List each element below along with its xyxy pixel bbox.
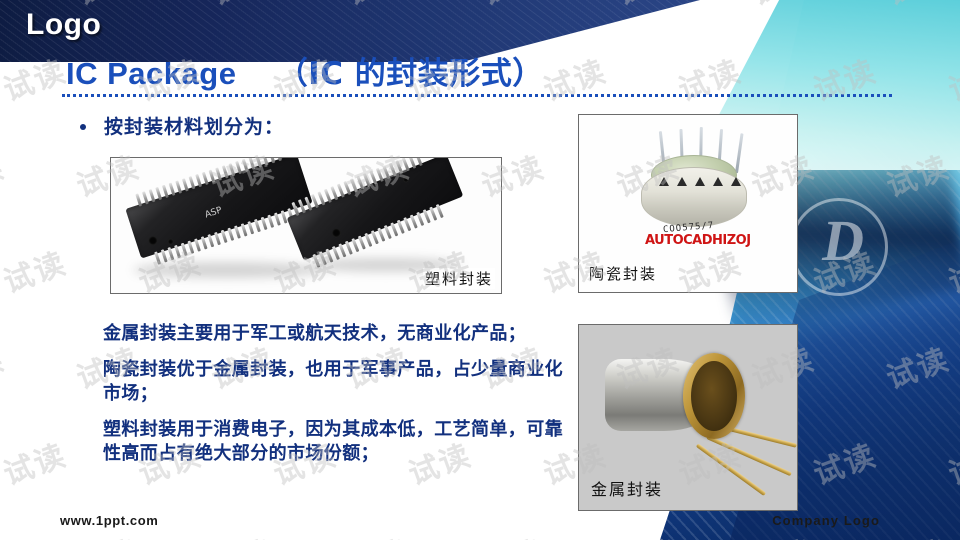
figure-plastic-package: ASP bbox=[110, 157, 502, 294]
body-paragraph: 金属封装主要用于军工或航天技术，无商业化产品； bbox=[103, 322, 573, 345]
body-paragraph: 塑料封装用于消费电子，因为其成本低，工艺简单，可靠性高而占有绝大部分的市场份额； bbox=[103, 418, 573, 465]
page-title-en: IC Package bbox=[66, 56, 236, 91]
watermark-text: 试读 bbox=[204, 526, 279, 540]
watermark-text: 试读 bbox=[0, 526, 10, 540]
chip-shadow bbox=[133, 262, 323, 278]
footer-url[interactable]: www.1ppt.com bbox=[60, 513, 158, 528]
metal-lead bbox=[696, 443, 766, 496]
metal-can-cavity bbox=[691, 361, 737, 431]
ceramic-housing bbox=[641, 167, 747, 227]
bullet-dot-icon bbox=[80, 124, 86, 130]
page-title: IC Package （IC 的封装形式） bbox=[66, 48, 544, 93]
watermark-text: 试读 bbox=[474, 526, 549, 540]
figure-ceramic-caption: 陶瓷封装 bbox=[589, 263, 657, 284]
dip-chip-left: ASP bbox=[125, 157, 312, 259]
watermark-text: 试读 bbox=[536, 46, 611, 109]
watermark-text: 试读 bbox=[0, 142, 10, 205]
footer-company-logo: Company Logo bbox=[772, 513, 880, 528]
bullet-label: 按封装材料划分为： bbox=[104, 112, 284, 139]
figure-plastic-caption: 塑料封装 bbox=[423, 268, 495, 289]
figure-metal-package: 金属封装 bbox=[578, 324, 798, 511]
bullet-row: 按封装材料划分为： bbox=[80, 112, 284, 139]
watermark-text: 试读 bbox=[0, 238, 72, 301]
watermark-text: 试读 bbox=[69, 526, 144, 540]
ceramic-pin bbox=[735, 133, 744, 173]
ceramic-pin-base bbox=[677, 177, 687, 186]
ceramic-pin-base bbox=[659, 177, 669, 186]
figure-ceramic-package: COO575/7 AUTOCADHIZOJ 陶瓷封装 bbox=[578, 114, 798, 293]
figure-metal-caption: 金属封装 bbox=[591, 476, 663, 500]
page-title-cn: （IC 的封装形式） bbox=[277, 56, 544, 92]
ceramic-pin-base bbox=[731, 177, 741, 186]
body-paragraph: 陶瓷封装优于金属封装，也用于军事产品，占少量商业化市场； bbox=[103, 358, 573, 405]
dip-chip-right bbox=[287, 157, 464, 261]
ceramic-red-overlay-text: AUTOCADHIZOJ bbox=[645, 233, 751, 248]
watermark-badge-letter: D bbox=[822, 212, 864, 270]
body-text-block: 金属封装主要用于军工或航天技术，无商业化产品； 陶瓷封装优于金属封装，也用于军事… bbox=[103, 322, 573, 465]
watermark-text: 试读 bbox=[339, 526, 414, 540]
slide-canvas: D Logo IC Package （IC 的封装形式） 按封装材料划分为： A… bbox=[0, 0, 960, 540]
watermark-text: 试读 bbox=[0, 334, 10, 397]
watermark-text: 试读 bbox=[0, 430, 72, 493]
ceramic-pin-base bbox=[713, 177, 723, 186]
title-divider bbox=[62, 94, 892, 97]
ceramic-pin-base bbox=[695, 177, 705, 186]
logo-text: Logo bbox=[26, 8, 101, 42]
